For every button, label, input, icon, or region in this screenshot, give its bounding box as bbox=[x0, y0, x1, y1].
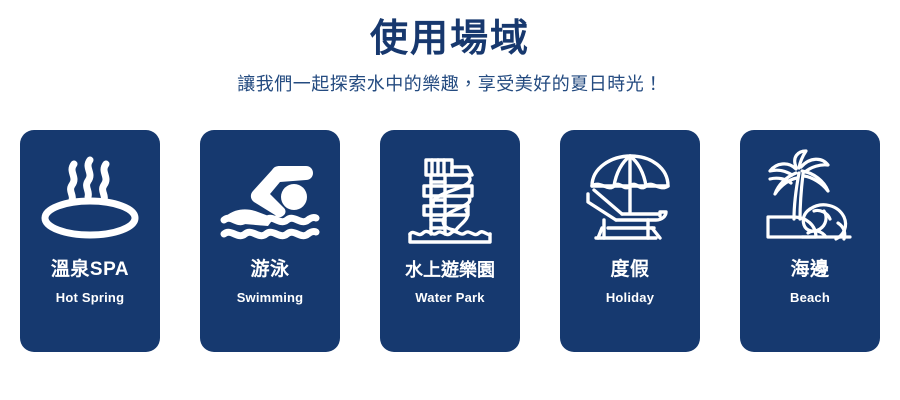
card-label-zh: 游泳 bbox=[250, 258, 289, 282]
scenario-card-beach[interactable]: 海邊 Beach bbox=[740, 130, 880, 352]
page-subtitle: 讓我們一起探索水中的樂趣，享受美好的夏日時光！ bbox=[0, 72, 900, 96]
hot-spring-icon bbox=[35, 144, 145, 252]
card-label-en: Hot Spring bbox=[56, 289, 124, 307]
card-label-zh: 水上遊樂園 bbox=[405, 258, 495, 282]
card-label-en: Swimming bbox=[237, 289, 304, 307]
card-label-en: Beach bbox=[790, 289, 830, 307]
water-slide-icon bbox=[395, 144, 505, 252]
scenario-card-row: 溫泉SPA Hot Spring 游泳 Swim bbox=[20, 130, 880, 352]
page-title: 使用場域 bbox=[0, 16, 900, 62]
swimming-icon bbox=[215, 144, 325, 252]
page-header: 使用場域 讓我們一起探索水中的樂趣，享受美好的夏日時光！ bbox=[0, 0, 900, 96]
scenario-card-swimming[interactable]: 游泳 Swimming bbox=[200, 130, 340, 352]
card-label-en: Water Park bbox=[415, 289, 484, 307]
scenario-card-water-park[interactable]: 水上遊樂園 Water Park bbox=[380, 130, 520, 352]
scenario-card-hot-spring[interactable]: 溫泉SPA Hot Spring bbox=[20, 130, 160, 352]
card-label-zh: 溫泉SPA bbox=[51, 258, 129, 282]
beach-umbrella-chair-icon bbox=[575, 144, 685, 252]
card-label-zh: 海邊 bbox=[790, 258, 829, 282]
card-label-en: Holiday bbox=[606, 289, 654, 307]
palm-tree-wave-icon bbox=[755, 144, 865, 252]
scenario-card-holiday[interactable]: 度假 Holiday bbox=[560, 130, 700, 352]
usage-scenarios-page: 使用場域 讓我們一起探索水中的樂趣，享受美好的夏日時光！ 溫泉SPA Hot S… bbox=[0, 0, 900, 400]
card-label-zh: 度假 bbox=[610, 258, 649, 282]
